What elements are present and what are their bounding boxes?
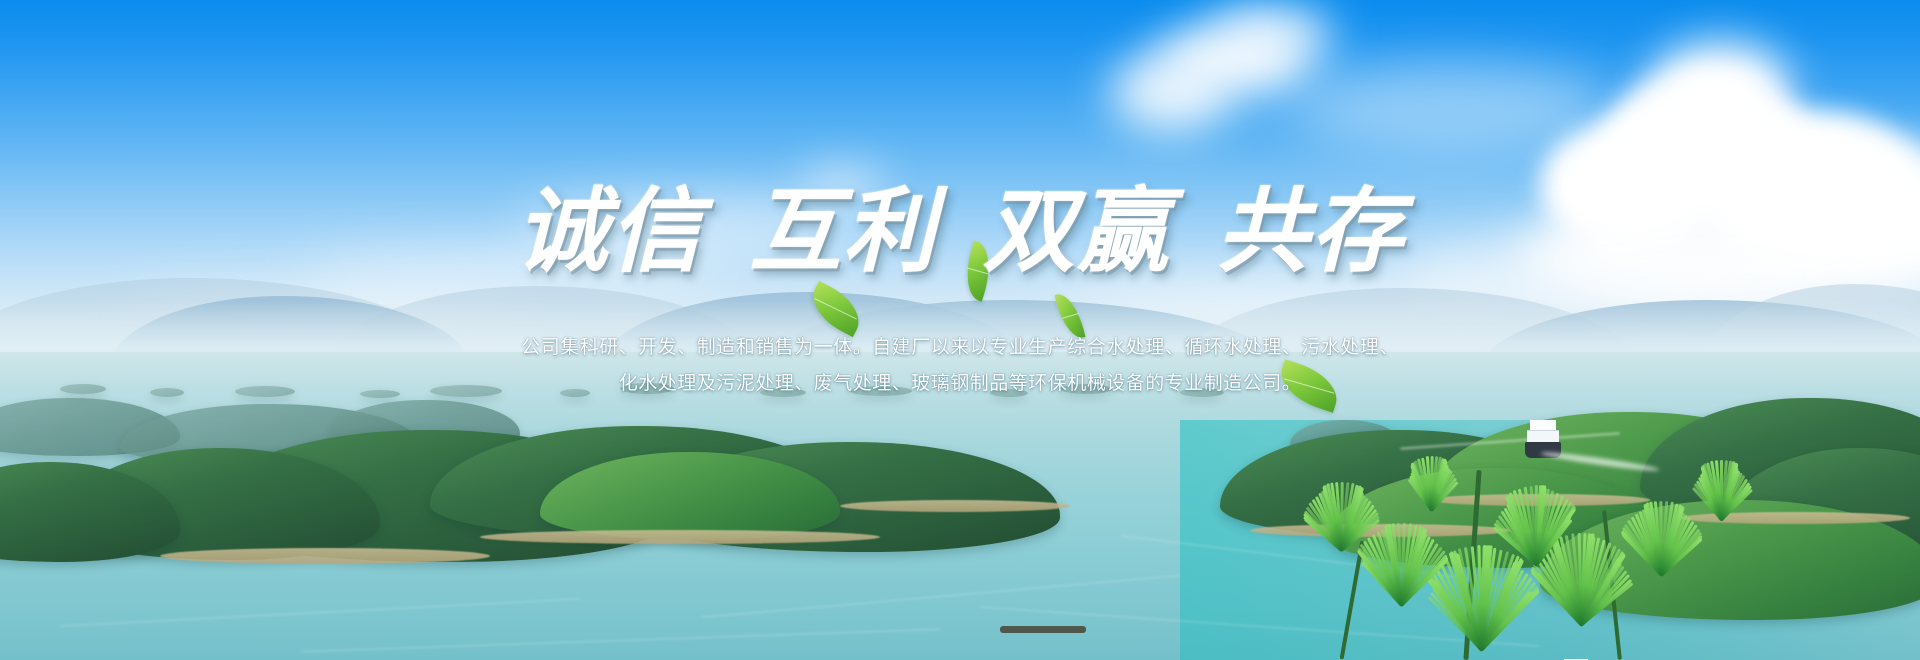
headline-word-1: 诚信: [516, 181, 704, 283]
foreground-pine-branch: [1280, 430, 1920, 660]
shoreline-main-3: [840, 500, 1070, 512]
company-description-line-1: 公司集科研、开发、制造和销售为一体。自建厂以来以专业生产综合水处理、循环水处理、…: [0, 330, 1920, 366]
shoreline-main-2: [480, 530, 880, 544]
pine-needles-cluster: [1280, 430, 1920, 660]
cloud-veil-right: [1290, 60, 1610, 150]
shoreline-main-1: [160, 548, 490, 564]
company-description-line-2: 化水处理及污泥处理、废气处理、玻璃钢制品等环保机械设备的专业制造公司。: [0, 366, 1920, 402]
decor-leaf-2-vein: [1062, 313, 1078, 319]
cloud-puff-c: [1215, 8, 1335, 60]
barge-boat: [1000, 626, 1086, 633]
headline-word-3: 双赢: [983, 181, 1171, 283]
headline-word-2: 互利: [749, 181, 937, 283]
headline-word-4: 共存: [1217, 181, 1405, 283]
cloud-puff-b: [1110, 52, 1230, 132]
cumulus-top: [1650, 42, 1790, 132]
page-title: 诚信互利双赢共存: [0, 186, 1920, 278]
hero-banner: 诚信互利双赢共存 公司集科研、开发、制造和销售为一体。自建厂以来以专业生产综合水…: [0, 0, 1920, 660]
company-description: 公司集科研、开发、制造和销售为一体。自建厂以来以专业生产综合水处理、循环水处理、…: [0, 330, 1920, 402]
